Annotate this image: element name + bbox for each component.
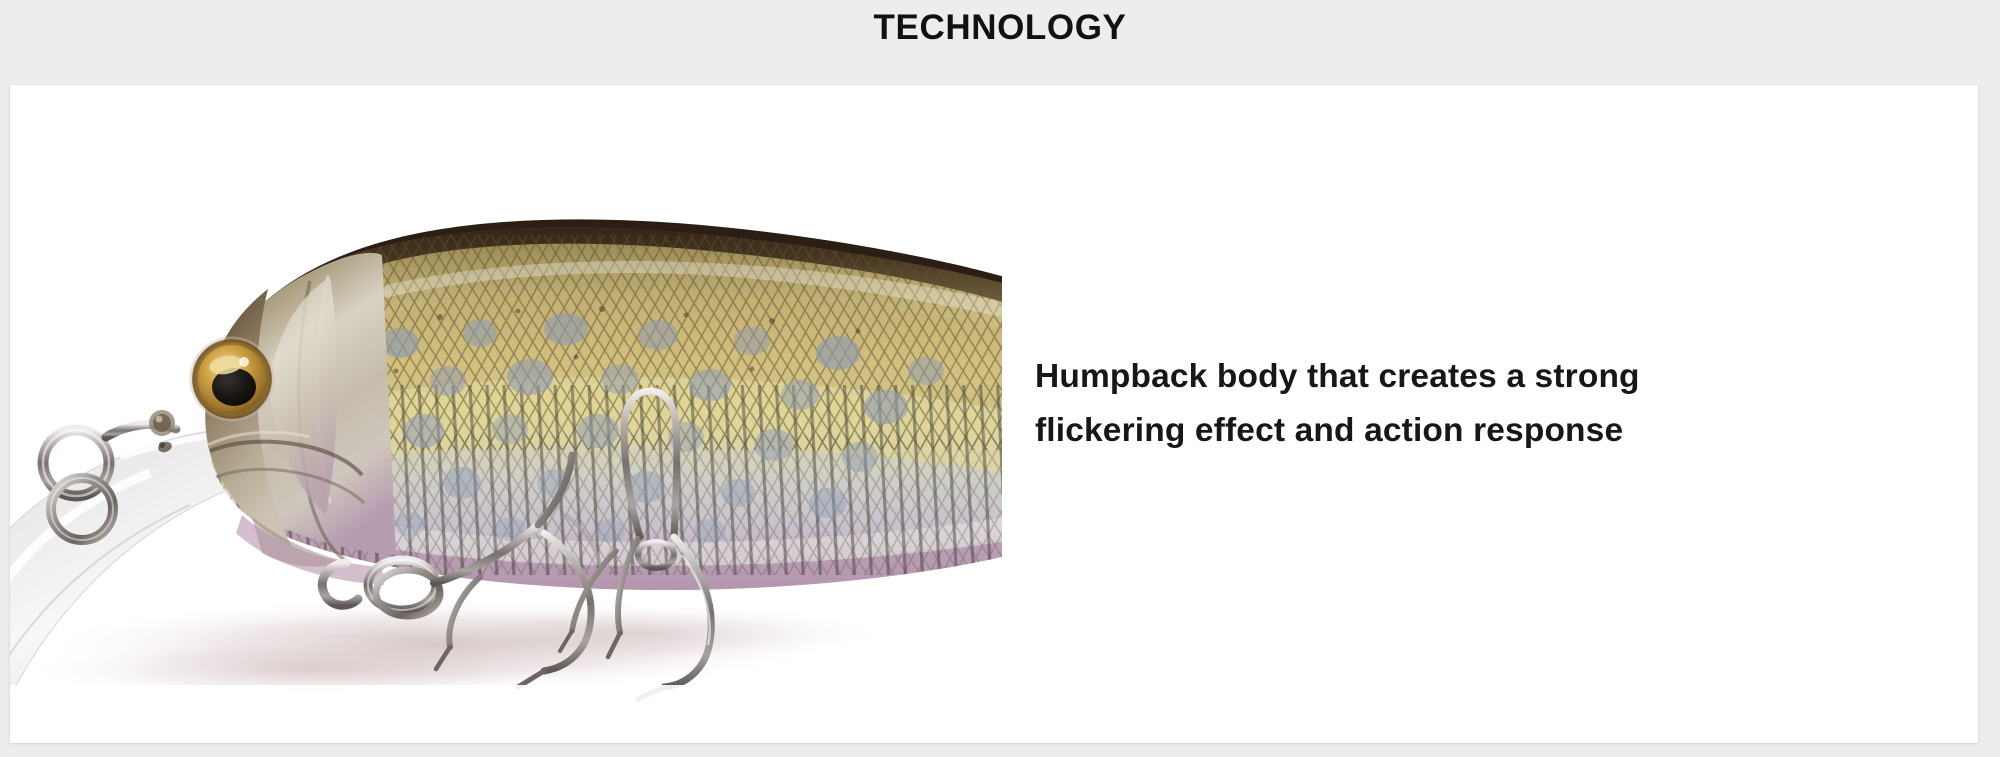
technology-section: TECHNOLOGY: [0, 0, 2000, 757]
nose-screw: [149, 410, 175, 436]
technology-card: Humpback body that creates a strong flic…: [10, 85, 1978, 743]
eye: [191, 338, 273, 420]
page-title: TECHNOLOGY: [0, 0, 2000, 80]
product-image: [10, 85, 1002, 743]
feature-description: Humpback body that creates a strong flic…: [1035, 350, 1795, 458]
lure-illustration: [10, 85, 1002, 743]
